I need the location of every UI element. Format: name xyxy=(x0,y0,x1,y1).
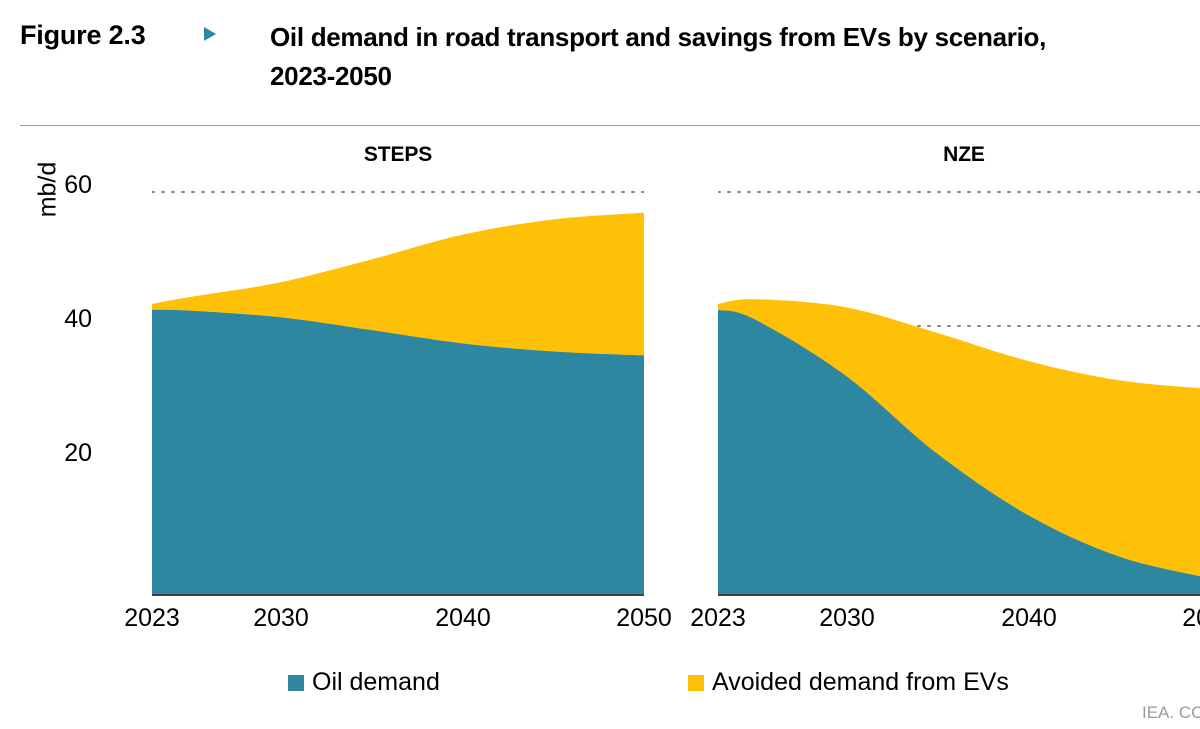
legend-swatch-avoided-demand xyxy=(688,675,704,691)
y-axis-tick-20: 20 xyxy=(32,441,92,466)
legend-label-oil-demand: Oil demand xyxy=(312,668,440,697)
footer-credit: IEA. CC BY 4.0. xyxy=(1142,703,1200,723)
x-axis-tick-steps-2030: 2030 xyxy=(245,604,317,633)
figure-title: Oil demand in road transport and savings… xyxy=(270,18,1200,96)
chart-panel-steps xyxy=(152,150,644,596)
nze-axis-line xyxy=(718,594,1200,596)
legend-label-avoided-demand: Avoided demand from EVs xyxy=(712,668,1009,697)
x-axis-tick-steps-2050: 2050 xyxy=(608,604,680,633)
legend-swatch-oil-demand xyxy=(288,675,304,691)
nze-area-chart xyxy=(718,150,1200,596)
x-axis-tick-nze-2030: 2030 xyxy=(811,604,883,633)
x-axis-tick-nze-2023: 2023 xyxy=(682,604,754,633)
figure-title-line-2: 2023-2050 xyxy=(270,57,1200,96)
y-axis-tick-40: 40 xyxy=(32,307,92,332)
triangle-right-icon xyxy=(204,27,216,41)
x-axis-tick-steps-2023: 2023 xyxy=(116,604,188,633)
steps-area-chart xyxy=(152,150,644,596)
legend-item-oil-demand: Oil demand xyxy=(288,668,440,697)
chart-panel-nze xyxy=(718,150,1200,596)
figure-page: Figure 2.3 Oil demand in road transport … xyxy=(0,0,1200,729)
figure-label: Figure 2.3 xyxy=(20,20,146,51)
steps-axis-line xyxy=(152,594,644,596)
figure-title-line-1: Oil demand in road transport and savings… xyxy=(270,22,1046,52)
x-axis-tick-nze-2050: 2050 xyxy=(1174,604,1200,633)
x-axis-tick-steps-2040: 2040 xyxy=(427,604,499,633)
y-axis-tick-60: 60 xyxy=(32,173,92,198)
legend-item-avoided-demand: Avoided demand from EVs xyxy=(688,668,1009,697)
header-divider xyxy=(20,125,1200,126)
x-axis-tick-nze-2040: 2040 xyxy=(993,604,1065,633)
